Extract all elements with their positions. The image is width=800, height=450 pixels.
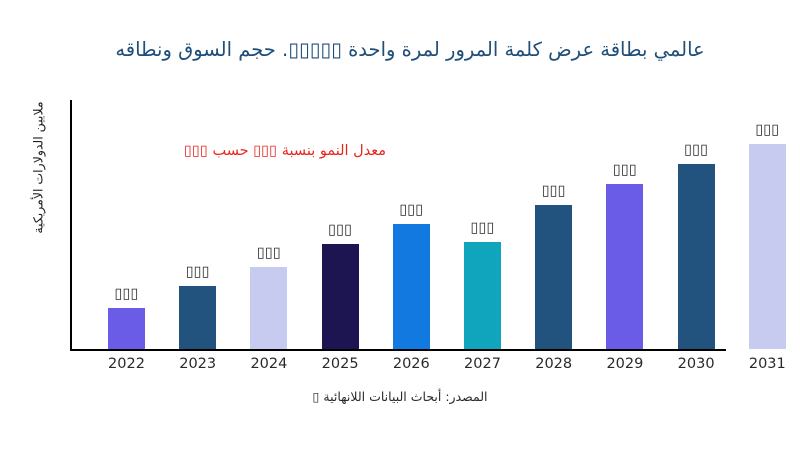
bar-value-label-2030: ▯▯▯	[666, 143, 727, 158]
bar-value-label-2029: ▯▯▯	[594, 163, 655, 178]
y-axis-line	[70, 100, 72, 350]
bar-value-label-2027: ▯▯▯	[452, 221, 513, 236]
bar-value-label-2023: ▯▯▯	[167, 265, 228, 280]
bar-2025[interactable]	[322, 244, 359, 349]
x-tick-2027: 2027	[448, 356, 517, 372]
x-tick-2023: 2023	[163, 356, 232, 372]
bar-2022[interactable]	[108, 308, 145, 349]
page-title: عالمي بطاقة عرض كلمة المرور لمرة واحدة ▯…	[60, 38, 760, 61]
y-axis-label: ملايين الدولارات الأمريكية	[31, 68, 46, 268]
x-tick-2030: 2030	[662, 356, 731, 372]
bar-2024[interactable]	[250, 267, 287, 349]
x-tick-2024: 2024	[234, 356, 303, 372]
bar-2023[interactable]	[179, 286, 216, 349]
source-note: المصدر: أبحاث البيانات اللانهائية ▯	[0, 389, 800, 404]
x-tick-2025: 2025	[306, 356, 375, 372]
bar-value-label-2024: ▯▯▯	[238, 246, 299, 261]
plot-area: ▯▯▯▯▯▯▯▯▯▯▯▯▯▯▯▯▯▯▯▯▯▯▯▯▯▯▯▯▯▯	[70, 100, 800, 350]
bar-value-label-2022: ▯▯▯	[96, 287, 157, 302]
bar-value-label-2031: ▯▯▯	[737, 123, 798, 138]
x-tick-2022: 2022	[92, 356, 161, 372]
x-tick-2028: 2028	[519, 356, 588, 372]
x-axis-line	[70, 349, 726, 351]
bar-2026[interactable]	[393, 224, 430, 349]
bar-value-label-2028: ▯▯▯	[523, 184, 584, 199]
bar-2027[interactable]	[464, 242, 501, 349]
growth-rate-annotation: معدل النمو بنسبة ▯▯▯ حسب ▯▯▯	[120, 143, 450, 159]
bar-2031[interactable]	[749, 144, 786, 349]
chart-slide: عالمي بطاقة عرض كلمة المرور لمرة واحدة ▯…	[0, 0, 800, 450]
bar-2029[interactable]	[606, 184, 643, 349]
bar-2030[interactable]	[678, 164, 715, 349]
x-tick-2026: 2026	[377, 356, 446, 372]
x-tick-2031: 2031	[733, 356, 800, 372]
bar-value-label-2025: ▯▯▯	[310, 223, 371, 238]
x-tick-2029: 2029	[590, 356, 659, 372]
bar-value-label-2026: ▯▯▯	[381, 203, 442, 218]
bar-2028[interactable]	[535, 205, 572, 349]
